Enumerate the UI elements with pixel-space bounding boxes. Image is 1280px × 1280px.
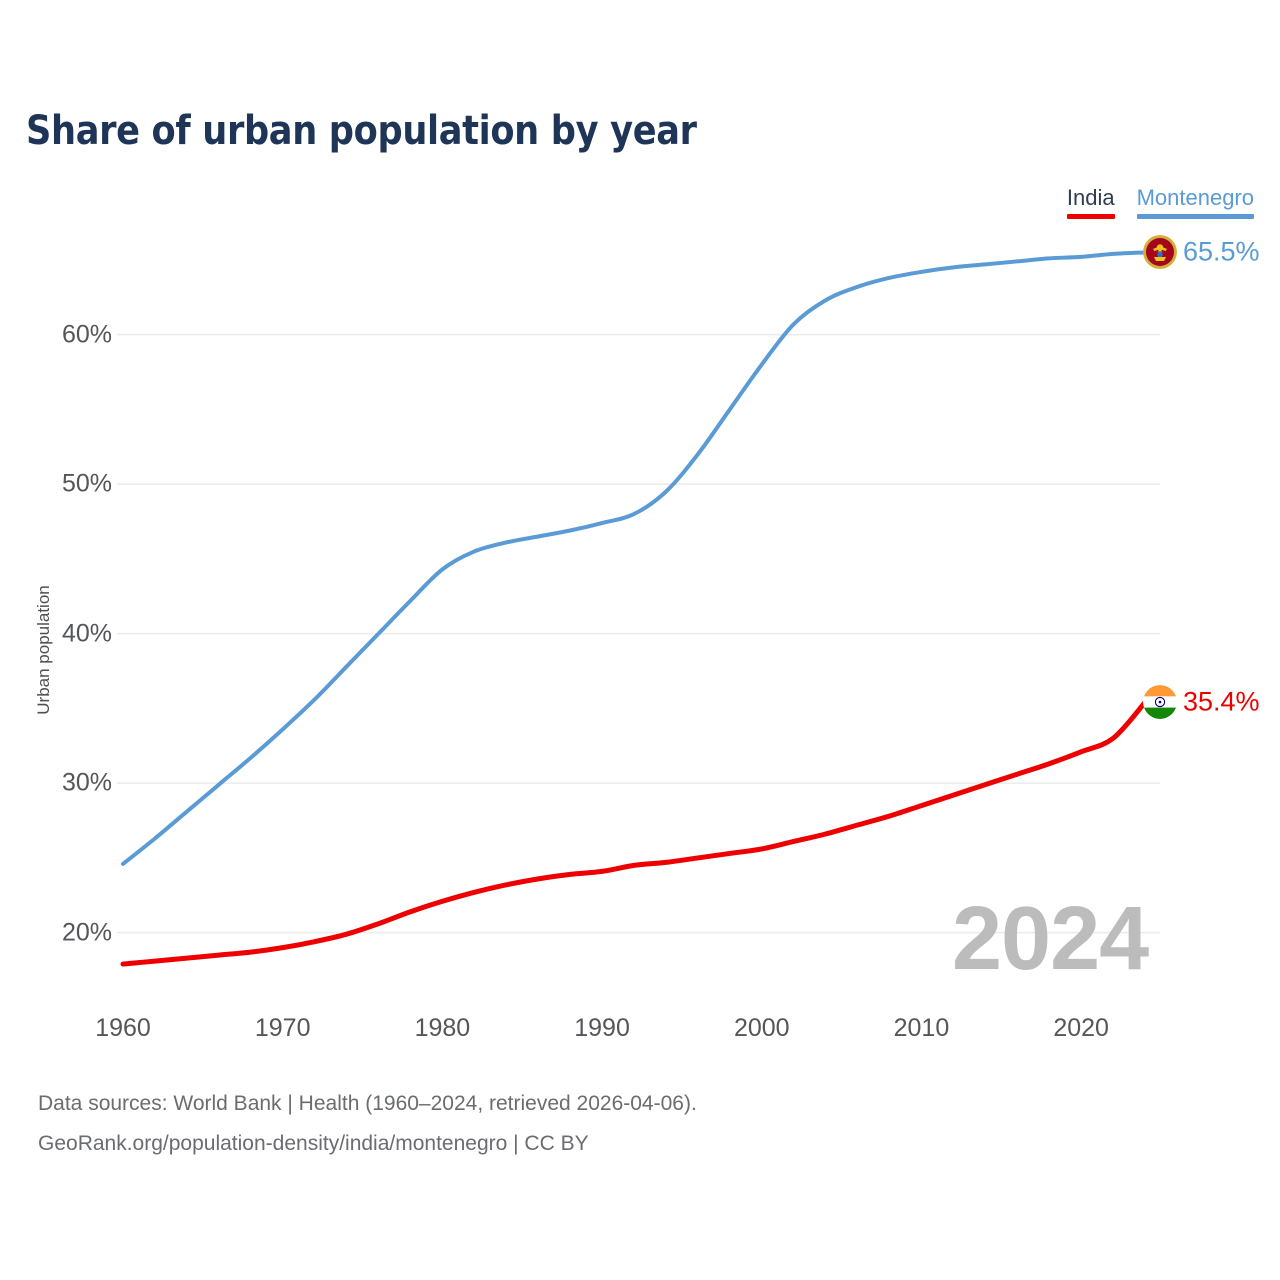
montenegro-end-value: 65.5% xyxy=(1183,237,1260,268)
legend-color-swatch-montenegro xyxy=(1137,214,1254,219)
legend-color-swatch-india xyxy=(1067,214,1115,219)
chart-footer: Data sources: World Bank | Health (1960–… xyxy=(38,1084,697,1164)
year-watermark: 2024 xyxy=(952,888,1148,991)
footer-attribution: GeoRank.org/population-density/india/mon… xyxy=(38,1124,697,1164)
y-axis-tick-label: 60% xyxy=(62,320,126,349)
x-axis-tick-label: 2020 xyxy=(1053,1014,1109,1043)
x-axis-tick-label: 1990 xyxy=(574,1014,630,1043)
legend-item-india[interactable]: India xyxy=(1067,186,1115,219)
x-axis-tick-label: 1980 xyxy=(415,1014,471,1043)
legend-item-montenegro[interactable]: Montenegro xyxy=(1137,186,1254,219)
legend-label-montenegro: Montenegro xyxy=(1137,186,1254,210)
chart-legend: India Montenegro xyxy=(1067,186,1254,219)
footer-data-sources: Data sources: World Bank | Health (1960–… xyxy=(38,1084,697,1124)
x-axis-tick-label: 1970 xyxy=(255,1014,311,1043)
x-axis-tick-label: 2010 xyxy=(894,1014,950,1043)
legend-label-india: India xyxy=(1067,186,1115,210)
montenegro-flag-icon xyxy=(1143,235,1177,269)
x-axis-tick-label: 1960 xyxy=(95,1014,151,1043)
x-axis-tick-label: 2000 xyxy=(734,1014,790,1043)
y-axis-tick-label: 50% xyxy=(62,470,126,499)
chart-page: Share of urban population by year India … xyxy=(0,0,1280,1280)
india-flag-icon xyxy=(1143,685,1177,719)
y-axis-title: Urban population xyxy=(34,585,54,714)
y-axis-tick-label: 40% xyxy=(62,619,126,648)
page-title: Share of urban population by year xyxy=(26,108,697,154)
india-end-value: 35.4% xyxy=(1183,687,1260,718)
series-line-montenegro xyxy=(123,252,1145,863)
y-axis-tick-label: 20% xyxy=(62,918,126,947)
y-axis-tick-label: 30% xyxy=(62,769,126,798)
